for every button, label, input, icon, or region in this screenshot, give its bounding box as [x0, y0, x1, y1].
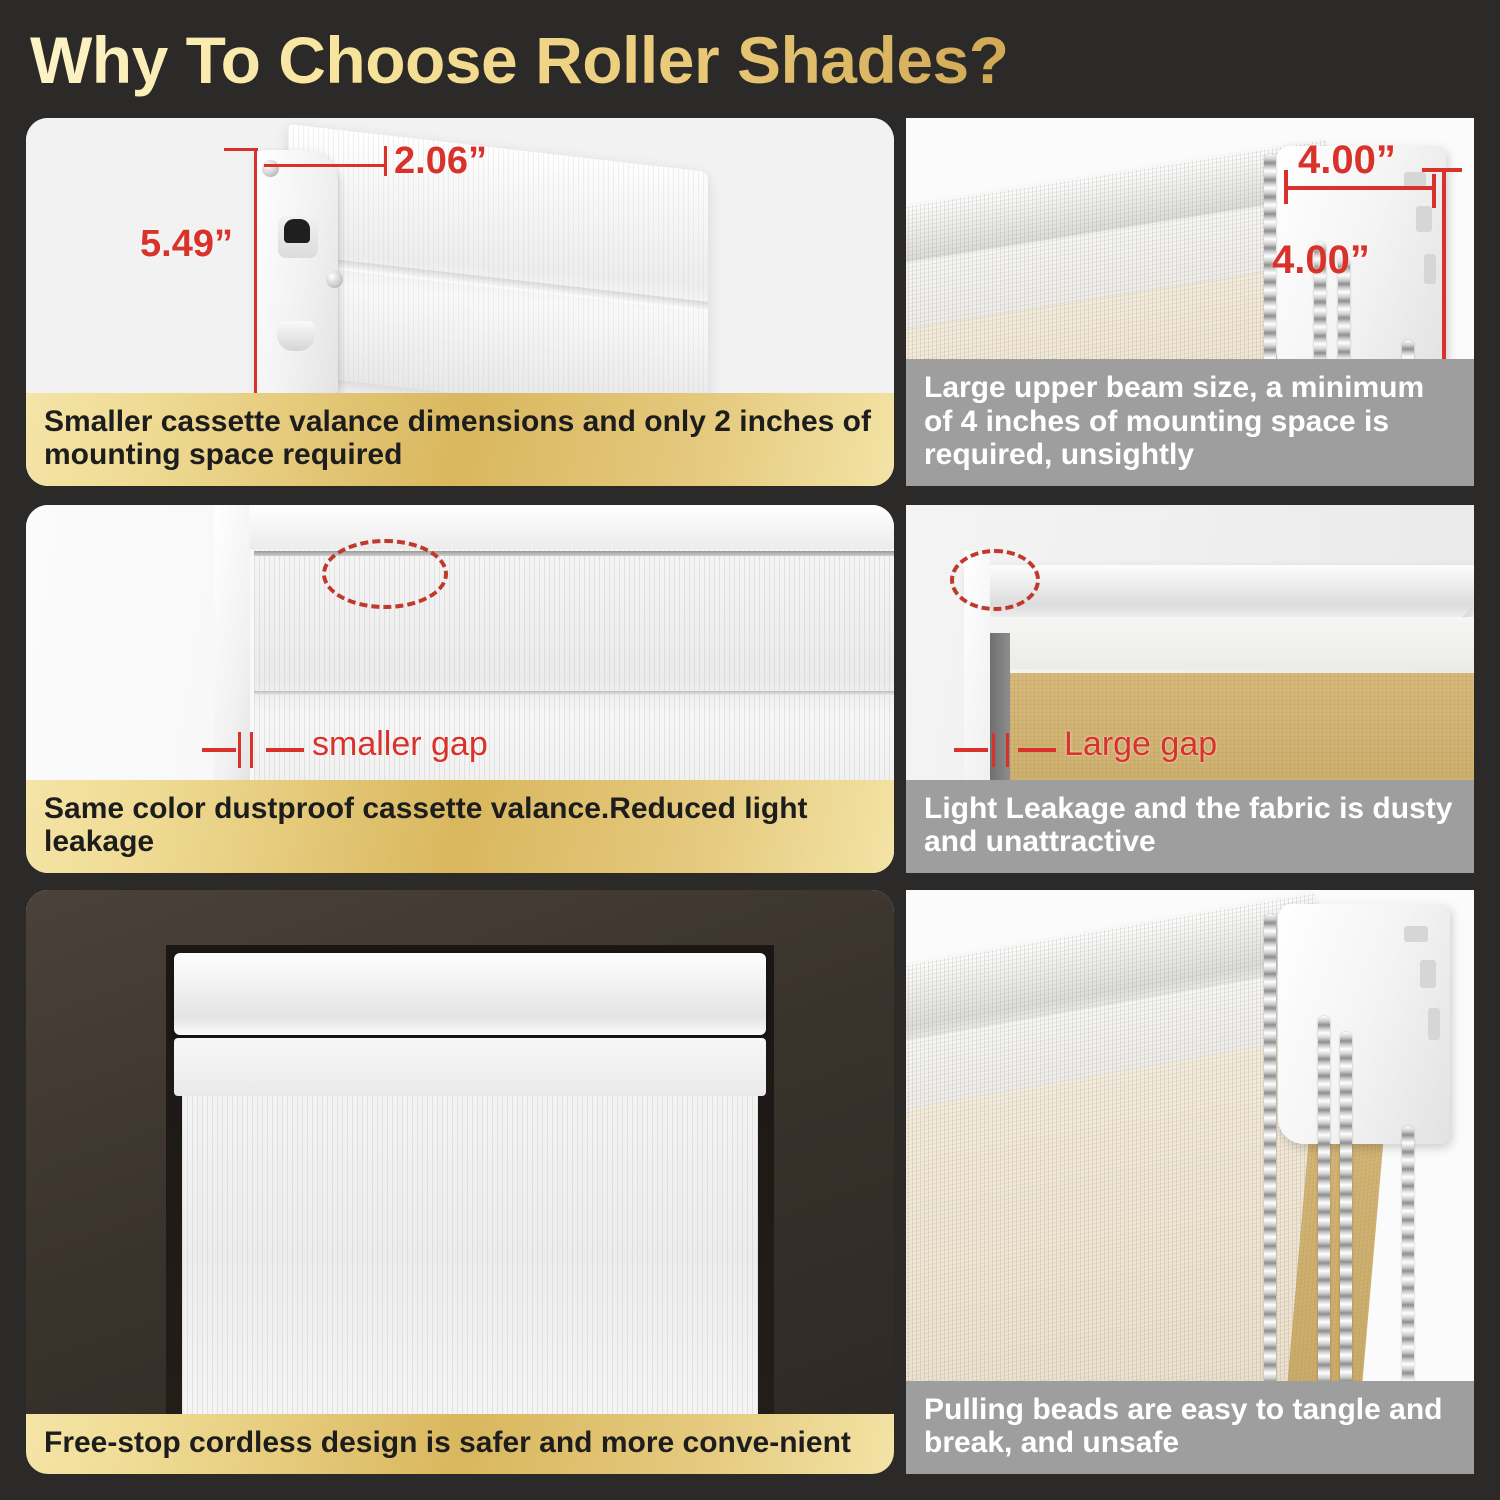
width-dim-line [1286, 186, 1436, 190]
caption-bottom-right: Pulling beads are easy to tangle and bre… [906, 1381, 1474, 1474]
caption-middle-left: Same color dustproof cassette valance.Re… [26, 780, 894, 873]
roller-shade-fabric [182, 1096, 758, 1452]
panel-top-left: 5.49” 2.06” Smaller cassette valance dim… [26, 118, 894, 486]
panel-top-right: 4.00” 4.00” Large upper beam size, a min… [906, 118, 1474, 486]
highlight-ellipse [322, 539, 448, 609]
panel-middle-right: Large gap Light Leakage and the fabric i… [906, 505, 1474, 873]
caption-middle-right: Light Leakage and the fabric is dusty an… [906, 780, 1474, 873]
gap-label: smaller gap [312, 725, 488, 764]
infographic-root: Why To Choose Roller Shades? 5.49” 2.06”… [0, 0, 1500, 1500]
height-dim-line [1442, 168, 1446, 368]
dimension-height-label: 4.00” [1272, 238, 1370, 283]
panel-bottom-right: Pulling beads are easy to tangle and bre… [906, 890, 1474, 1474]
page-title: Why To Choose Roller Shades? [30, 18, 1230, 102]
caption-bottom-left: Free-stop cordless design is safer and m… [26, 1414, 894, 1474]
height-dim-line [254, 148, 257, 398]
gap-label: Large gap [1064, 725, 1217, 764]
panel-bottom-left-image [26, 890, 894, 1474]
width-dim-line [264, 164, 386, 167]
dimension-height-label: 5.49” [140, 223, 233, 266]
highlight-ellipse [950, 549, 1040, 611]
panel-bottom-left: Free-stop cordless design is safer and m… [26, 890, 894, 1474]
dimension-width-label: 2.06” [394, 140, 487, 183]
panel-middle-left: smaller gap Same color dustproof cassett… [26, 505, 894, 873]
caption-top-left: Smaller cassette valance dimensions and … [26, 393, 894, 486]
roller-bracket [1278, 904, 1450, 1144]
caption-top-right: Large upper beam size, a minimum of 4 in… [906, 359, 1474, 486]
dimension-width-label: 4.00” [1298, 138, 1396, 183]
